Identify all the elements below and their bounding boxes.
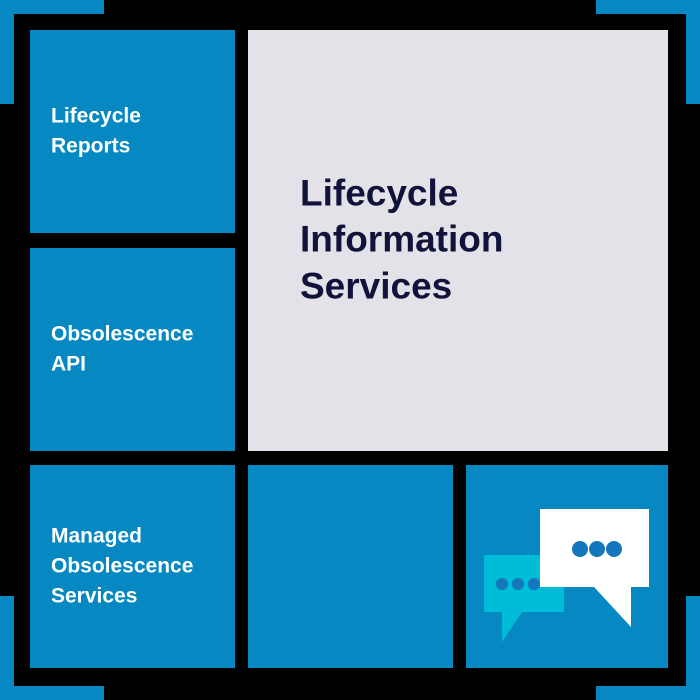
bracket-top-right-vertical bbox=[686, 0, 700, 104]
tile-lifecycle-reports[interactable]: Lifecycle Reports bbox=[30, 30, 235, 233]
bracket-top-right-horizontal bbox=[596, 0, 700, 14]
bracket-bottom-left-vertical bbox=[0, 596, 14, 700]
bracket-bottom-right-vertical bbox=[686, 596, 700, 700]
tile-lifecycle-reports-label: Lifecycle Reports bbox=[51, 101, 225, 162]
tile-chat-bubbles[interactable] bbox=[466, 465, 668, 668]
page-title: Lifecycle Information Services bbox=[300, 170, 648, 311]
tile-managed-obsolescence-services[interactable]: Managed Obsolescence Services bbox=[30, 465, 235, 668]
tile-obsolescence-api[interactable]: Obsolescence API bbox=[30, 248, 235, 451]
speech-bubbles-icon bbox=[466, 465, 668, 668]
bracket-top-left-vertical bbox=[0, 0, 14, 104]
bracket-bottom-right-horizontal bbox=[596, 686, 700, 700]
tile-obsolescence-api-label: Obsolescence API bbox=[51, 319, 225, 380]
panel-lifecycle-information-services: Lifecycle Information Services bbox=[248, 30, 668, 451]
tile-blank[interactable] bbox=[248, 465, 453, 668]
bracket-bottom-left-horizontal bbox=[0, 686, 104, 700]
diagram-canvas: Lifecycle Reports Obsolescence API Manag… bbox=[0, 0, 700, 700]
tile-managed-obsolescence-services-label: Managed Obsolescence Services bbox=[51, 521, 225, 612]
bracket-top-left-horizontal bbox=[0, 0, 104, 14]
